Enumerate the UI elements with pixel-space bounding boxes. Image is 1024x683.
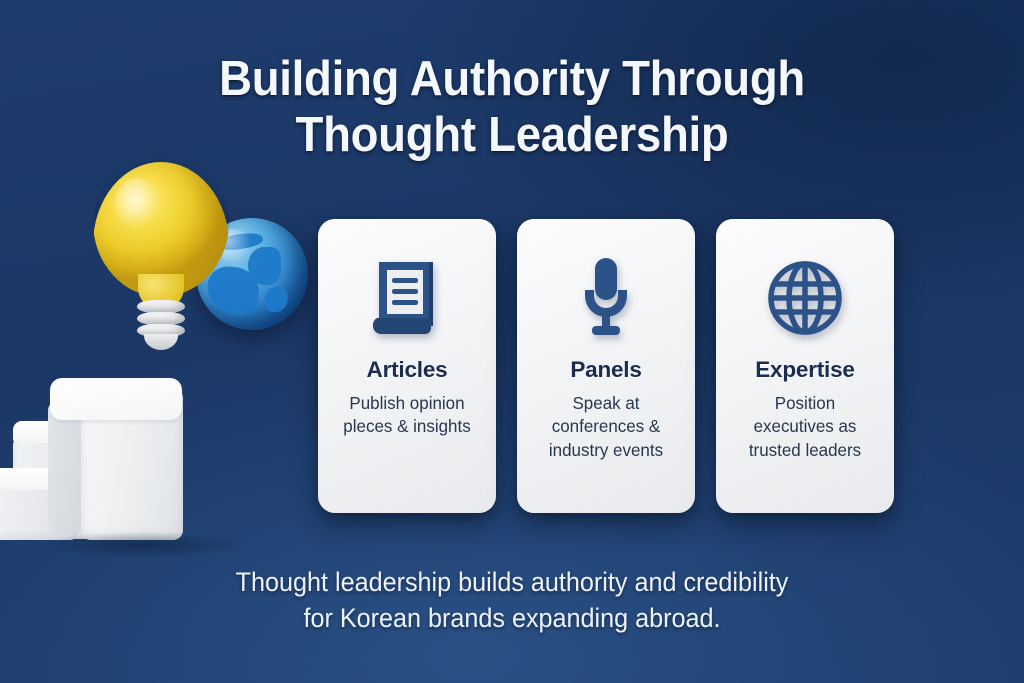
card-description-line: Speak at bbox=[529, 392, 682, 415]
microphone-icon bbox=[573, 250, 639, 346]
footer-line-2: for Korean brands expanding abroad. bbox=[26, 600, 999, 636]
card-description-line: trusted leaders bbox=[728, 439, 881, 462]
feature-card-panels[interactable]: Panels Speak at conferences & industry e… bbox=[517, 219, 695, 513]
bulb-base-tip bbox=[144, 334, 178, 350]
infographic-slide: Building Authority Through Thought Leade… bbox=[0, 0, 1024, 683]
card-description: Position executives as trusted leaders bbox=[728, 392, 881, 462]
book-icon bbox=[369, 250, 445, 346]
card-title: Expertise bbox=[755, 357, 855, 383]
lightbulb-podium-illustration bbox=[0, 150, 330, 570]
card-description-line: Position bbox=[728, 392, 881, 415]
lightbulb-icon bbox=[93, 162, 229, 342]
footer-line-1: Thought leadership builds authority and … bbox=[26, 564, 999, 600]
feature-card-expertise[interactable]: Expertise Position executives as trusted… bbox=[716, 219, 894, 513]
globe-grid-icon bbox=[766, 250, 844, 346]
card-description-line: industry events bbox=[529, 439, 682, 462]
card-description-line: conferences & bbox=[529, 415, 682, 438]
title-line-2: Thought Leadership bbox=[36, 108, 988, 164]
card-description-line: pleces & insights bbox=[330, 415, 483, 438]
card-title: Articles bbox=[367, 357, 448, 383]
card-title: Panels bbox=[570, 357, 641, 383]
ground-shadow bbox=[40, 532, 250, 558]
title-line-1: Building Authority Through bbox=[36, 52, 988, 108]
card-description: Publish opinion pleces & insights bbox=[330, 392, 483, 439]
card-description: Speak at conferences & industry events bbox=[529, 392, 682, 462]
podium-top bbox=[50, 378, 182, 420]
feature-card-articles[interactable]: Articles Publish opinion pleces & insigh… bbox=[318, 219, 496, 513]
bulb-highlight bbox=[115, 178, 159, 230]
card-description-line: executives as bbox=[728, 415, 881, 438]
globe-landmass bbox=[265, 287, 287, 312]
feature-card-row: Articles Publish opinion pleces & insigh… bbox=[318, 219, 894, 513]
podium-block bbox=[48, 368, 183, 540]
card-description-line: Publish opinion bbox=[330, 392, 483, 415]
footer-caption: Thought leadership builds authority and … bbox=[0, 564, 1024, 636]
page-title: Building Authority Through Thought Leade… bbox=[0, 52, 1024, 164]
